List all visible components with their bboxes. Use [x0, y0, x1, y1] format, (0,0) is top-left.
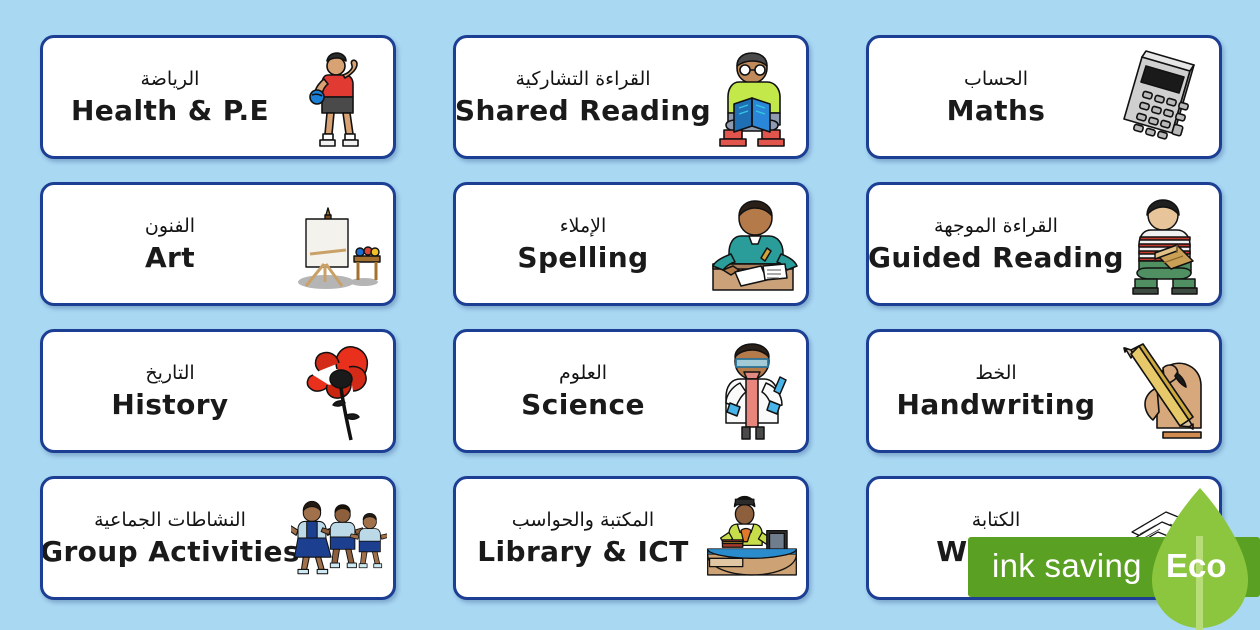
card-text-block: القراءة الموجهة Guided Reading — [869, 185, 1117, 303]
card-label-english: Science — [521, 390, 645, 419]
card-label-english: Guided Reading — [868, 243, 1124, 272]
subject-card-spelling[interactable]: الإملاء Spelling — [453, 182, 809, 306]
card-label-arabic: الحساب — [964, 69, 1028, 90]
card-label-english: Library & ICT — [477, 537, 688, 566]
card-text-block: المكتبة والحواسب Library & ICT — [456, 479, 704, 597]
card-label-arabic: المكتبة والحواسب — [512, 510, 654, 531]
card-text-block: الكتابة Writing — [869, 479, 1117, 597]
card-text-block: الرياضة Health & P.E — [43, 38, 291, 156]
card-label-arabic: القراءة التشاركية — [515, 69, 650, 90]
hand-holding-pencil-icon — [1117, 332, 1219, 450]
card-label-arabic: الفنون — [145, 216, 195, 237]
librarian-at-desk-with-computer-icon — [704, 479, 806, 597]
card-label-arabic: الإملاء — [560, 216, 607, 237]
child-writing-at-desk-icon — [704, 185, 806, 303]
subject-card-art[interactable]: الفنون Art — [40, 182, 396, 306]
subject-card-shared-reading[interactable]: القراءة التشاركية Shared Reading — [453, 35, 809, 159]
subject-card-maths[interactable]: الحساب Maths — [866, 35, 1222, 159]
child-stretching-with-ball-icon — [291, 38, 393, 156]
card-label-english: History — [111, 390, 228, 419]
easel-and-paints-icon — [291, 185, 393, 303]
subject-card-library-ict[interactable]: المكتبة والحواسب Library & ICT — [453, 476, 809, 600]
card-label-english: Group Activities — [40, 537, 300, 566]
card-text-block: الإملاء Spelling — [456, 185, 704, 303]
stack-of-written-pages-icon — [1117, 479, 1219, 597]
labels-board: الرياضة Health & P.E — [0, 0, 1260, 630]
card-label-english: Health & P.E — [71, 96, 269, 125]
card-label-english: Writing — [936, 537, 1056, 566]
card-text-block: الفنون Art — [43, 185, 291, 303]
child-reading-striped-shirt-icon — [1117, 185, 1219, 303]
child-reading-book-cross-legged-icon — [704, 38, 806, 156]
subject-card-grid: الرياضة Health & P.E — [40, 35, 1222, 600]
subject-card-writing[interactable]: الكتابة Writing — [866, 476, 1222, 600]
card-label-arabic: القراءة الموجهة — [934, 216, 1058, 237]
card-label-arabic: الكتابة — [972, 510, 1021, 531]
card-text-block: العلوم Science — [456, 332, 704, 450]
card-label-arabic: الرياضة — [141, 69, 200, 90]
card-label-english: Maths — [947, 96, 1046, 125]
scientist-with-test-tube-icon — [704, 332, 806, 450]
three-children-holding-hands-icon — [291, 479, 393, 597]
card-text-block: الحساب Maths — [869, 38, 1117, 156]
card-text-block: القراءة التشاركية Shared Reading — [456, 38, 704, 156]
subject-card-health-pe[interactable]: الرياضة Health & P.E — [40, 35, 396, 159]
card-label-english: Art — [145, 243, 195, 272]
card-label-english: Spelling — [517, 243, 648, 272]
subject-card-handwriting[interactable]: الخط Handwriting — [866, 329, 1222, 453]
card-text-block: النشاطات الجماعية Group Activities — [43, 479, 291, 597]
subject-card-history[interactable]: التاريخ History — [40, 329, 396, 453]
card-label-english: Shared Reading — [455, 96, 711, 125]
card-label-arabic: العلوم — [559, 363, 607, 384]
card-text-block: التاريخ History — [43, 332, 291, 450]
card-label-arabic: الخط — [975, 363, 1016, 384]
card-label-arabic: النشاطات الجماعية — [94, 510, 246, 531]
poppy-flower-icon — [291, 332, 393, 450]
subject-card-guided-reading[interactable]: القراءة الموجهة Guided Reading — [866, 182, 1222, 306]
card-text-block: الخط Handwriting — [869, 332, 1117, 450]
card-label-arabic: التاريخ — [145, 363, 194, 384]
subject-card-science[interactable]: العلوم Science — [453, 329, 809, 453]
calculator-icon — [1117, 38, 1219, 156]
card-label-english: Handwriting — [897, 390, 1096, 419]
subject-card-group-activities[interactable]: النشاطات الجماعية Group Activities — [40, 476, 396, 600]
